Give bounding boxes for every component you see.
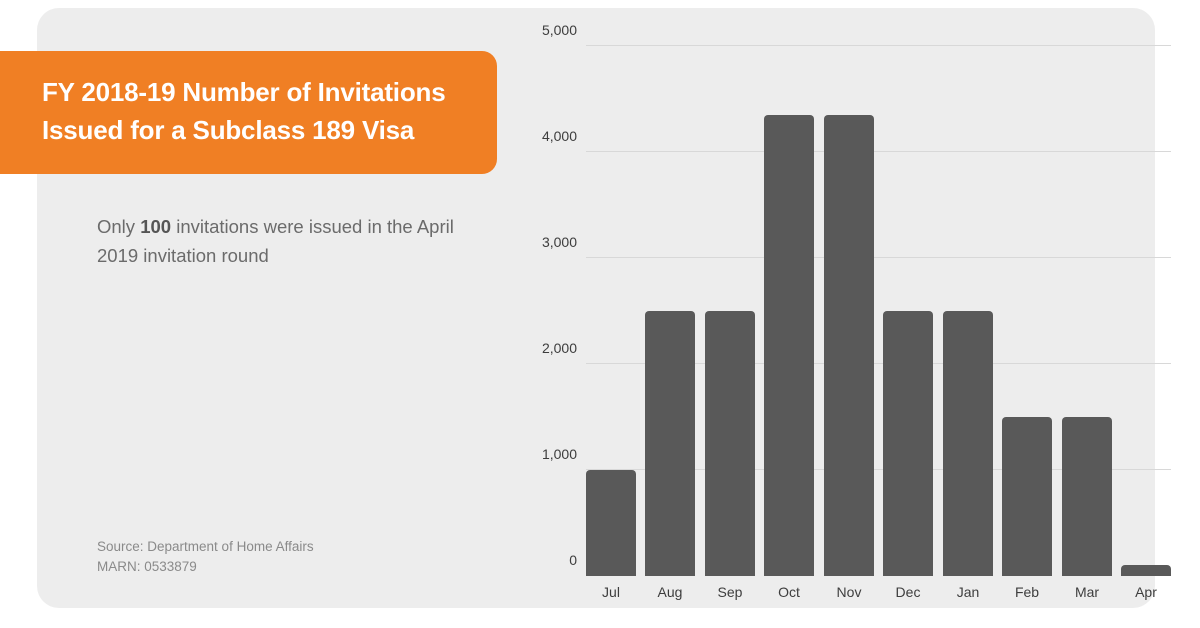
bar[interactable]: [1002, 417, 1052, 576]
x-axis-tick-label: Feb: [1002, 584, 1052, 600]
infographic-canvas: FY 2018-19 Number of Invitations Issued …: [0, 0, 1200, 628]
y-axis-tick-label: 2,000: [542, 340, 577, 356]
y-axis-tick-label: 5,000: [542, 22, 577, 38]
bar[interactable]: [883, 311, 933, 576]
bar[interactable]: [586, 470, 636, 576]
marn-line: MARN: 0533879: [97, 557, 314, 577]
subtitle-highlight-number: 100: [140, 216, 171, 237]
x-axis-tick-label: Aug: [645, 584, 695, 600]
y-axis-tick-label: 0: [569, 552, 577, 568]
bar[interactable]: [705, 311, 755, 576]
y-axis-tick-label: 4,000: [542, 128, 577, 144]
title-line-1: FY 2018-19 Number of Invitations: [42, 73, 457, 111]
title-line-2: Issued for a Subclass 189 Visa: [42, 111, 457, 149]
bar[interactable]: [645, 311, 695, 576]
x-axis-tick-label: Sep: [705, 584, 755, 600]
subtitle-text: Only 100 invitations were issued in the …: [97, 212, 497, 270]
plot-area: 01,0002,0003,0004,0005,000 JulAugSepOctN…: [586, 46, 1171, 576]
x-axis-tick-label: Jan: [943, 584, 993, 600]
x-axis-tick-label: Mar: [1062, 584, 1112, 600]
source-footer: Source: Department of Home Affairs MARN:…: [97, 537, 314, 577]
bar[interactable]: [943, 311, 993, 576]
x-axis-tick-label: Dec: [883, 584, 933, 600]
subtitle-prefix: Only: [97, 216, 140, 237]
title-banner: FY 2018-19 Number of Invitations Issued …: [0, 51, 497, 174]
bar[interactable]: [1121, 565, 1171, 576]
bar[interactable]: [764, 115, 814, 576]
x-axis-tick-label: Oct: [764, 584, 814, 600]
y-axis-tick-label: 1,000: [542, 446, 577, 462]
gridline: [586, 257, 1171, 258]
bar[interactable]: [1062, 417, 1112, 576]
x-axis-tick-label: Jul: [586, 584, 636, 600]
bar[interactable]: [824, 115, 874, 576]
y-axis-tick-label: 3,000: [542, 234, 577, 250]
x-axis-tick-label: Nov: [824, 584, 874, 600]
gridline: [586, 151, 1171, 152]
x-axis-tick-label: Apr: [1121, 584, 1171, 600]
source-line: Source: Department of Home Affairs: [97, 537, 314, 557]
bar-chart: 01,0002,0003,0004,0005,000 JulAugSepOctN…: [535, 30, 1135, 590]
gridline: [586, 45, 1171, 46]
